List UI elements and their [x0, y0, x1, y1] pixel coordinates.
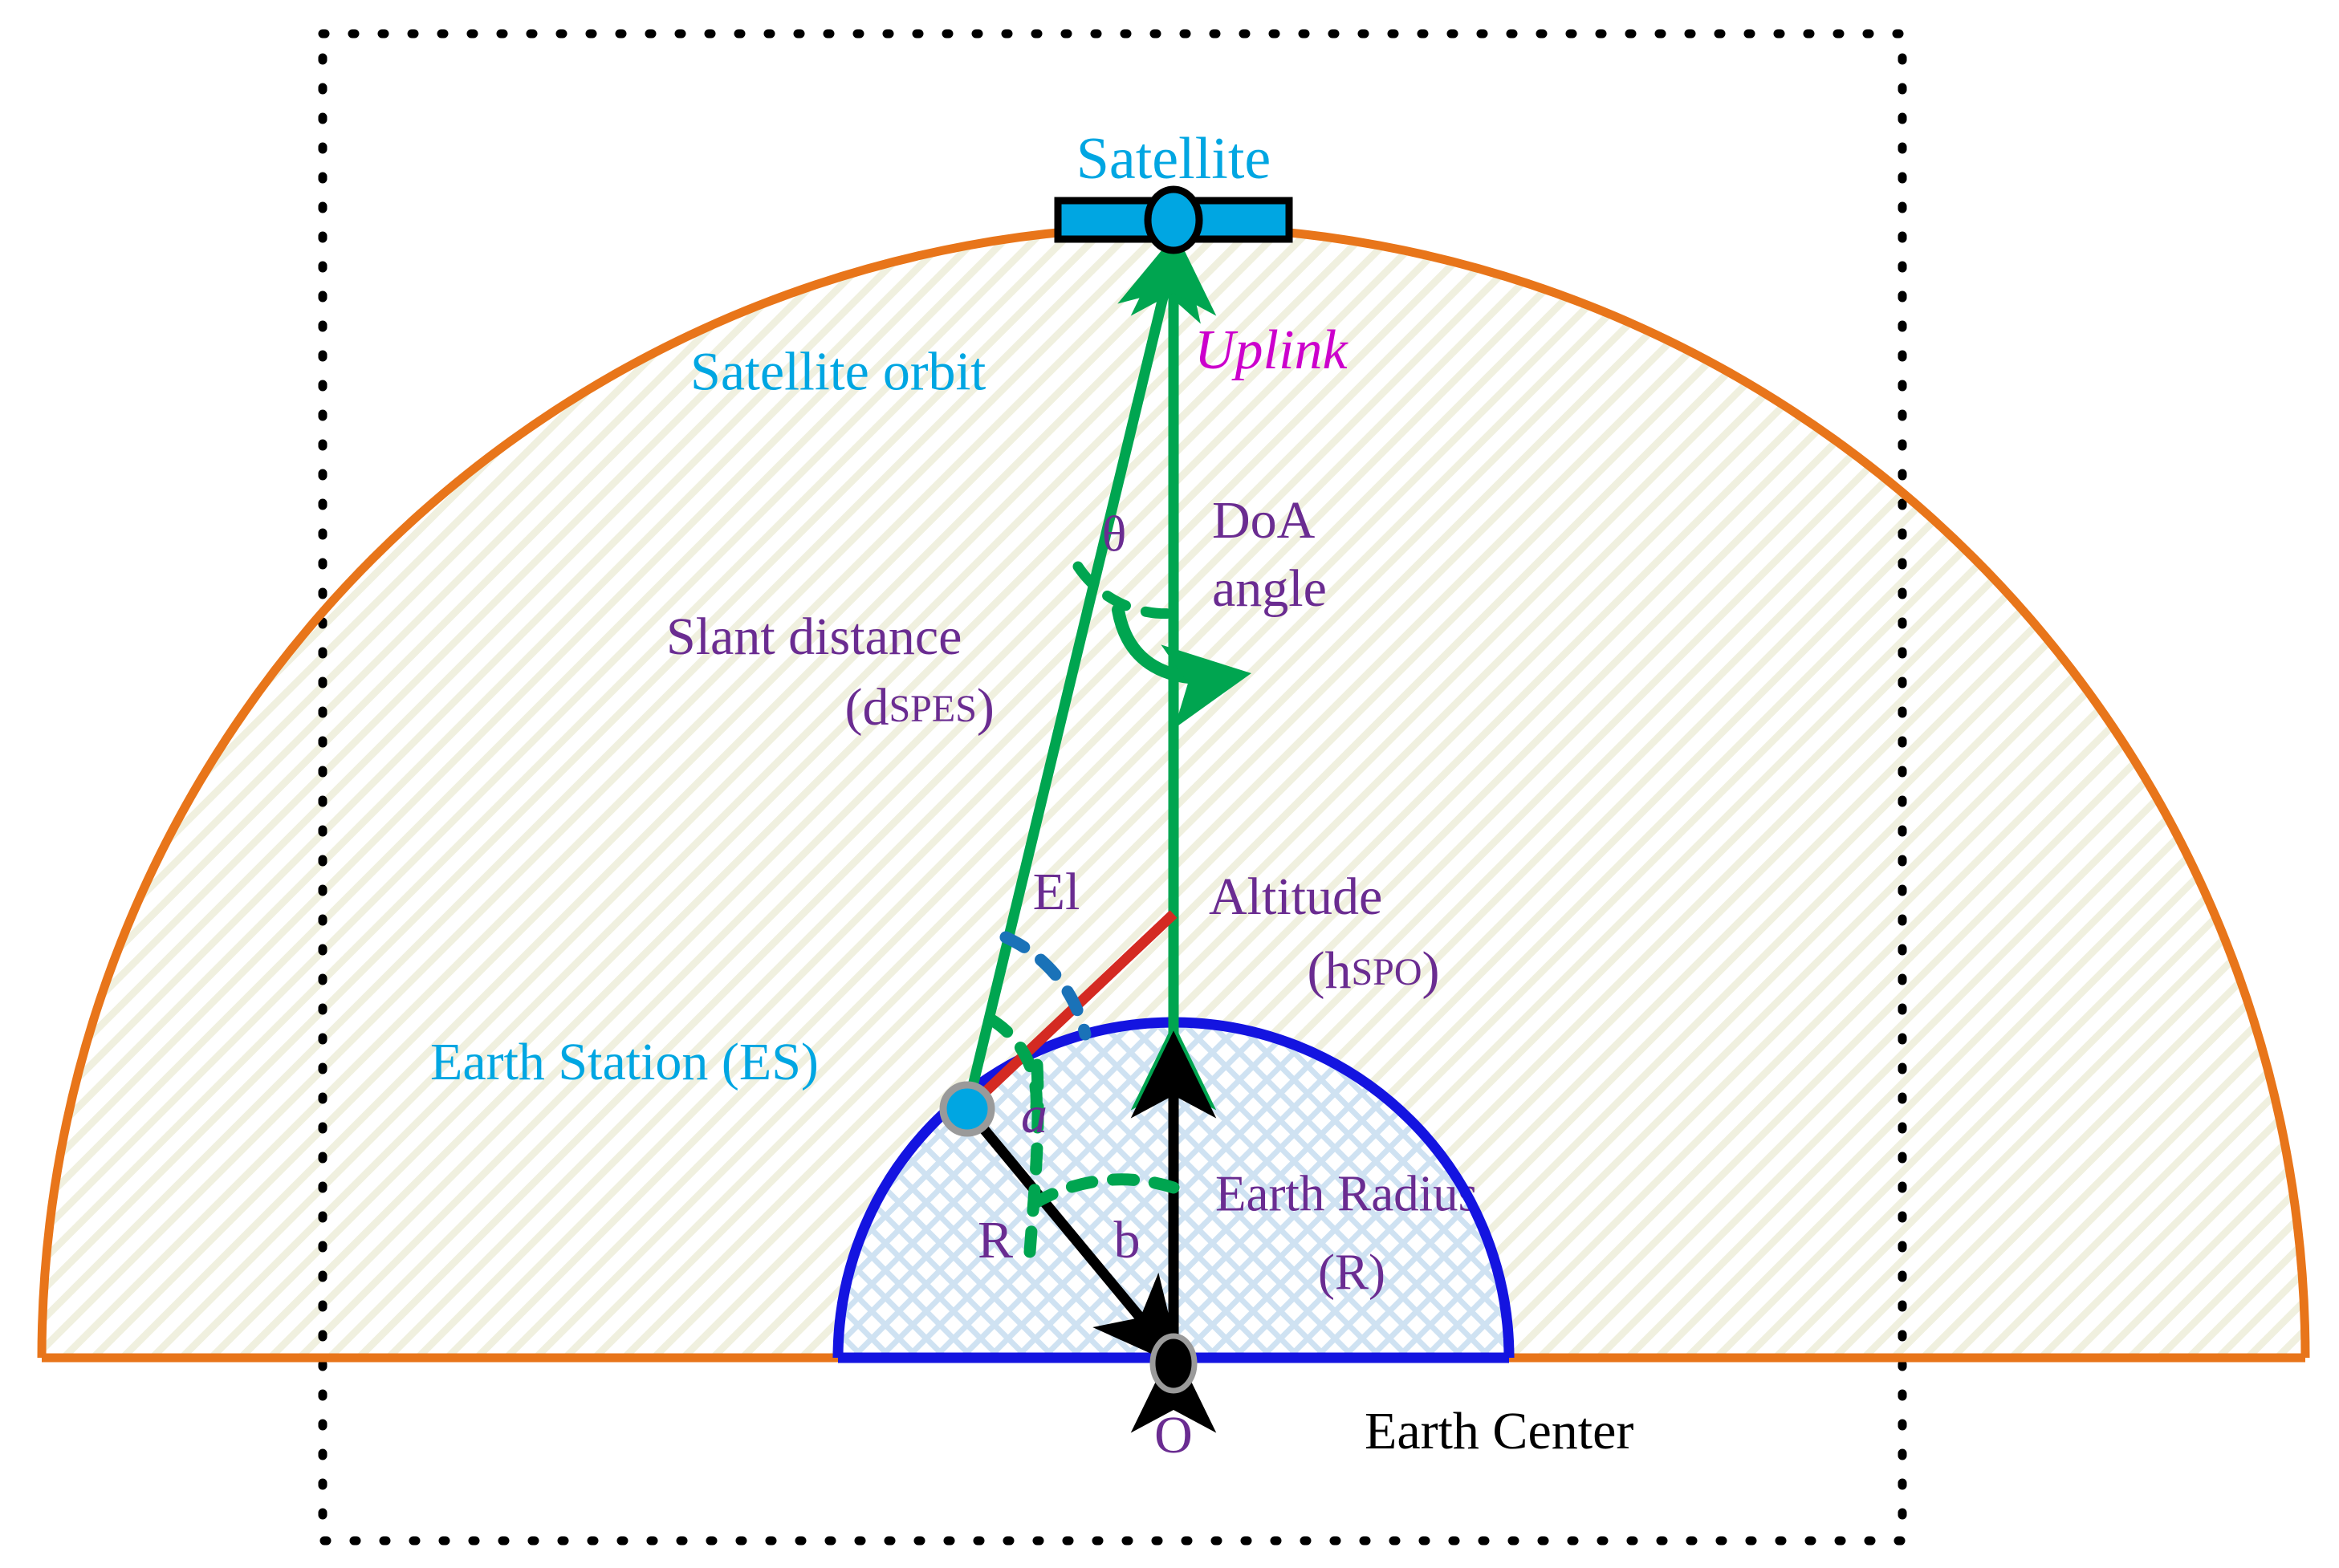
satellite-icon [1058, 189, 1289, 250]
satellite-orbit-label: Satellite orbit [690, 341, 986, 402]
satellite-label: Satellite [1076, 126, 1271, 192]
earth-center-label: Earth Center [1365, 1402, 1633, 1460]
alpha-angle-label: a [1021, 1086, 1047, 1144]
earth-station-node [943, 1085, 991, 1133]
slant-distance-label-line1: Slant distance [666, 607, 962, 666]
earth-station-label: Earth Station (ES) [430, 1033, 819, 1091]
slant-distance-label-line2: (dSPES) [779, 678, 1034, 737]
doa-angle-label-line2: angle [1212, 559, 1327, 618]
b-angle-label: b [1114, 1211, 1141, 1269]
slant-distance-subscript: SPES [889, 688, 976, 730]
earth-radius-label-line1: Earth Radius [1215, 1165, 1478, 1221]
theta-label: θ [1102, 506, 1127, 563]
slant-distance-open: (d [845, 678, 889, 737]
altitude-subscript: SPO [1351, 951, 1422, 993]
altitude-label-line2: (hSPO) [1241, 941, 1479, 1000]
radius-short-label: R [978, 1211, 1013, 1269]
elevation-label: El [1033, 863, 1080, 921]
altitude-close: ) [1422, 941, 1440, 1000]
slant-distance-close: ) [977, 678, 995, 737]
diagram-canvas: Earth Radius (R) Satellite Satellite orb… [0, 0, 2339, 1568]
earth-center-node [1153, 1336, 1194, 1391]
altitude-open: (h [1308, 941, 1352, 1000]
earth-radius-label-line2: (R) [1318, 1244, 1385, 1300]
doa-angle-label-line1: DoA [1212, 491, 1316, 550]
origin-label: O [1154, 1406, 1193, 1464]
uplink-label: Uplink [1194, 319, 1348, 381]
altitude-label-line1: Altitude [1209, 867, 1382, 926]
